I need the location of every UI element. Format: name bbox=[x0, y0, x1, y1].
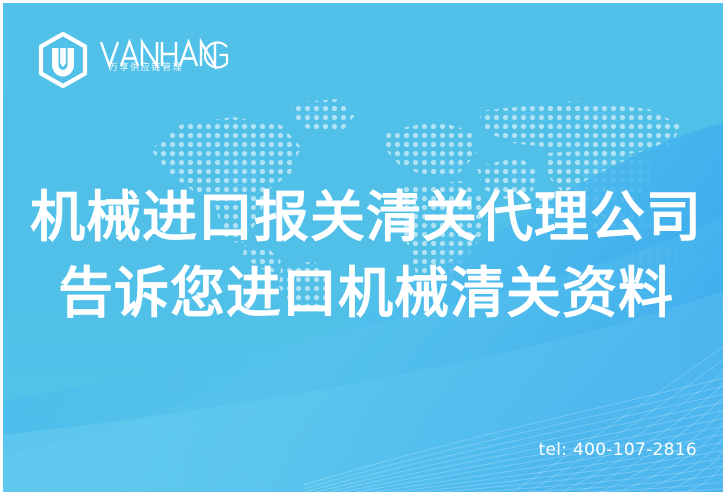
brand-subtitle: 万享供应链管理 bbox=[109, 63, 183, 74]
promo-banner: 万享供应链管理 机械进口报关清关代理公司 告诉您进口机械清关资料 tel: 40… bbox=[0, 0, 726, 495]
contact-phone: tel: 400-107-2816 bbox=[538, 440, 697, 460]
headline-block: 机械进口报关清关代理公司 告诉您进口机械清关资料 bbox=[3, 179, 726, 331]
headline-line-2: 告诉您进口机械清关资料 bbox=[3, 255, 726, 331]
hexagon-u-logo-icon bbox=[37, 32, 89, 88]
brand-wordmark-group: 万享供应链管理 bbox=[99, 37, 229, 83]
diagonal-stripes-icon bbox=[303, 333, 726, 495]
brand-logo[interactable]: 万享供应链管理 bbox=[37, 31, 229, 89]
headline-line-1: 机械进口报关清关代理公司 bbox=[3, 179, 726, 255]
